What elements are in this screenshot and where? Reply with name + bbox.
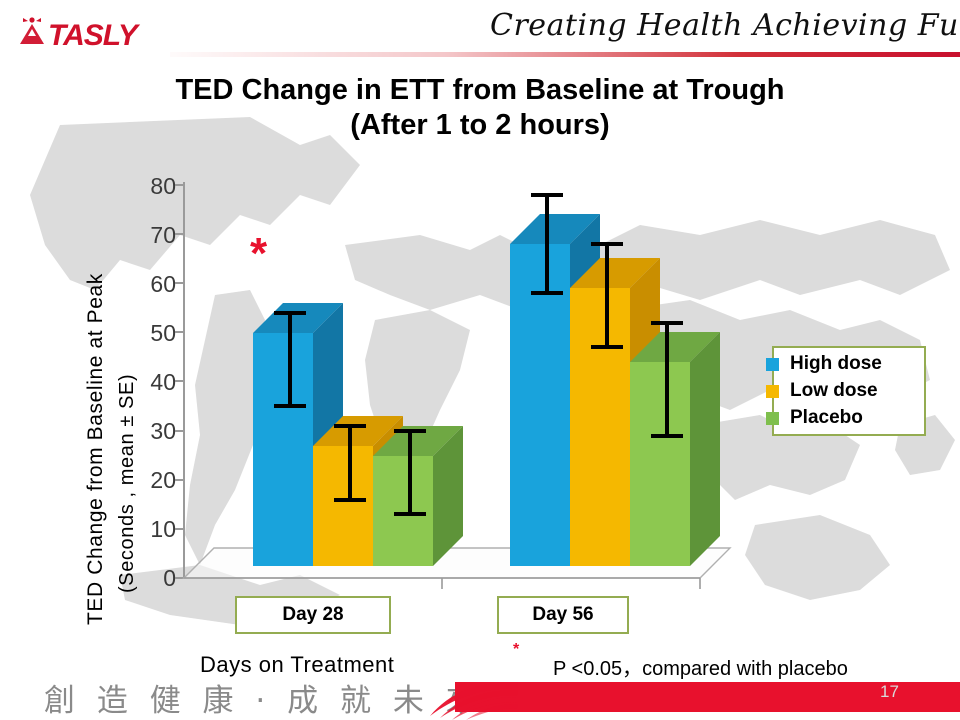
footnote-star: * <box>513 641 519 659</box>
legend-label-low-dose: Low dose <box>790 380 878 402</box>
y-axis-title-line-1: TED Change from Baseline at Peak <box>84 273 108 625</box>
footnote-text: P <0.05，compared with placebo <box>553 652 848 681</box>
slide: TASLY Creating Health Achieving Future T… <box>0 0 960 720</box>
legend-swatch-placebo <box>766 412 779 425</box>
legend-label-placebo: Placebo <box>790 407 863 429</box>
legend-swatch-low-dose <box>766 385 779 398</box>
bar-day28-placebo <box>373 426 463 566</box>
bar-day56-placebo <box>630 332 720 566</box>
slide-number: 17 <box>880 682 899 702</box>
significance-star-annotation: * <box>250 232 267 276</box>
y-axis-title-line-2: (Seconds , mean ± SE) <box>116 374 139 593</box>
legend-swatch-high-dose <box>766 358 779 371</box>
chart-plot-area: 80 70 60 50 40 30 20 10 0 <box>0 0 960 720</box>
legend-label-high-dose: High dose <box>790 353 882 375</box>
footer-swoosh-graphic <box>400 676 520 720</box>
category-label-day-28: Day 28 <box>235 596 391 634</box>
category-label-day-56: Day 56 <box>497 596 629 634</box>
